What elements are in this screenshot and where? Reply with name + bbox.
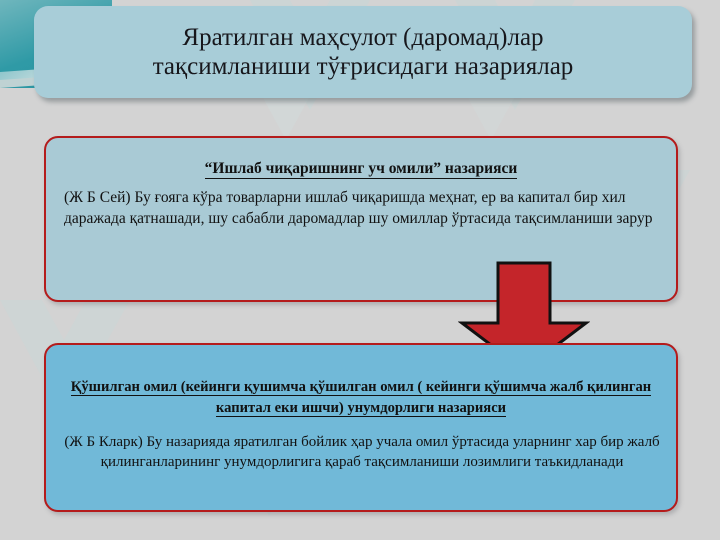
page-title: Яратилган маҳсулот (даромад)лар тақсимла… (139, 23, 588, 82)
theory-one-heading-text: “Ишлаб чиқаришнинг уч омили” назарияси (205, 160, 518, 179)
theory-one-heading: “Ишлаб чиқаришнинг уч омили” назарияси (46, 160, 676, 178)
slide-title-box: Яратилган маҳсулот (даромад)лар тақсимла… (34, 6, 692, 98)
theory-one-body: (Ж Б Сей) Бу ғояга кўра товарларни ишлаб… (64, 187, 660, 230)
slide-canvas: Яратилган маҳсулот (даромад)лар тақсимла… (0, 0, 720, 540)
theory-two-heading: Қўшилган омил (кейинги қушимча қўшилган … (56, 377, 666, 419)
theory-two-heading-text: Қўшилган омил (кейинги қушимча қўшилган … (71, 379, 651, 417)
theory-two-body: (Ж Б Кларк) Бу назарияда яратилган бойли… (62, 432, 662, 473)
theory-two-box: Қўшилган омил (кейинги қушимча қўшилган … (44, 343, 678, 512)
